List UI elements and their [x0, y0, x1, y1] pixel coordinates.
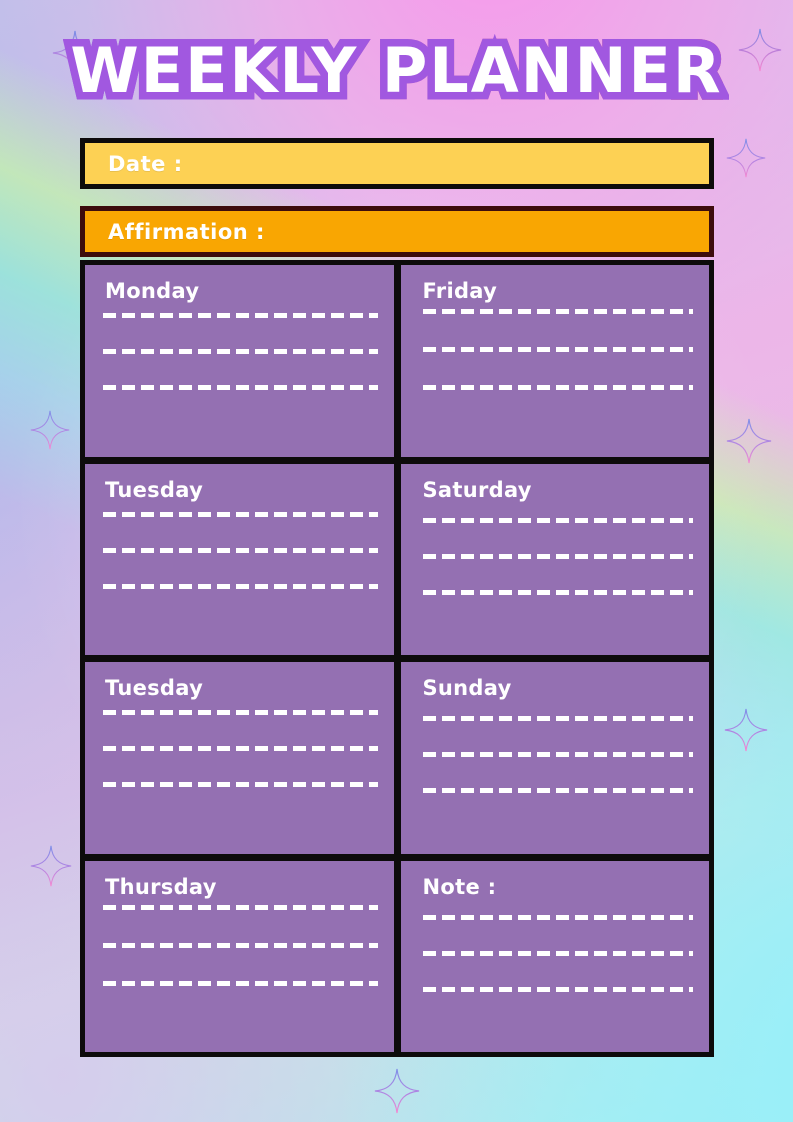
writing-lines	[103, 512, 378, 589]
sparkle-right-upper-icon	[726, 138, 766, 178]
writing-line[interactable]	[423, 752, 694, 757]
day-cell-monday[interactable]: Monday	[85, 265, 394, 457]
date-label: Date :	[85, 152, 183, 176]
writing-line[interactable]	[423, 951, 694, 956]
day-grid: Monday Friday Tuesday Satu	[80, 260, 714, 1057]
writing-lines	[103, 313, 378, 390]
writing-line[interactable]	[103, 584, 378, 589]
day-cell-sunday[interactable]: Sunday	[401, 662, 710, 854]
day-title: Tuesday	[105, 478, 378, 502]
writing-lines	[423, 518, 694, 595]
writing-line[interactable]	[103, 548, 378, 553]
writing-line[interactable]	[103, 746, 378, 751]
sparkle-left-middle-icon	[30, 410, 70, 450]
writing-line[interactable]	[423, 915, 694, 920]
page-title-text: WEEKLY PLANNER	[70, 38, 722, 103]
page-title: WEEKLY PLANNER WEEKLY PLANNER	[0, 38, 793, 103]
day-title: Thursday	[105, 875, 378, 899]
writing-line[interactable]	[423, 309, 694, 314]
day-cell-thursday[interactable]: Thursday	[85, 861, 394, 1053]
day-cell-tuesday[interactable]: Tuesday	[85, 464, 394, 656]
writing-line[interactable]	[423, 385, 694, 390]
writing-line[interactable]	[423, 518, 694, 523]
sparkle-bottom-icon	[374, 1068, 420, 1114]
writing-line[interactable]	[423, 590, 694, 595]
note-cell[interactable]: Note :	[401, 861, 710, 1053]
writing-line[interactable]	[423, 554, 694, 559]
writing-line[interactable]	[103, 349, 378, 354]
day-title: Tuesday	[105, 676, 378, 700]
writing-line[interactable]	[103, 512, 378, 517]
affirmation-label: Affirmation :	[85, 220, 265, 244]
writing-line[interactable]	[103, 313, 378, 318]
writing-line[interactable]	[103, 385, 378, 390]
day-title: Saturday	[423, 478, 694, 502]
writing-lines	[103, 710, 378, 787]
note-title: Note :	[423, 875, 694, 899]
day-cell-tuesday-2[interactable]: Tuesday	[85, 662, 394, 854]
sparkle-right-middle-icon	[726, 418, 772, 464]
sparkle-right-lower-icon	[724, 708, 768, 752]
writing-line[interactable]	[103, 943, 378, 948]
writing-line[interactable]	[423, 987, 694, 992]
writing-line[interactable]	[103, 905, 378, 910]
writing-line[interactable]	[423, 788, 694, 793]
writing-line[interactable]	[103, 782, 378, 787]
affirmation-field[interactable]: Affirmation :	[80, 206, 714, 257]
writing-line[interactable]	[103, 981, 378, 986]
date-field[interactable]: Date :	[80, 138, 714, 189]
writing-line[interactable]	[423, 716, 694, 721]
writing-lines	[423, 309, 694, 390]
writing-lines	[423, 915, 694, 992]
day-title: Sunday	[423, 676, 694, 700]
day-cell-friday[interactable]: Friday	[401, 265, 710, 457]
writing-lines	[423, 716, 694, 793]
writing-line[interactable]	[103, 710, 378, 715]
day-cell-saturday[interactable]: Saturday	[401, 464, 710, 656]
writing-lines	[103, 905, 378, 986]
writing-line[interactable]	[423, 347, 694, 352]
sparkle-left-lower-icon	[30, 845, 72, 887]
day-title: Monday	[105, 279, 378, 303]
day-title: Friday	[423, 279, 694, 303]
planner-page: WEEKLY PLANNER WEEKLY PLANNER Date : Aff…	[0, 0, 793, 1122]
